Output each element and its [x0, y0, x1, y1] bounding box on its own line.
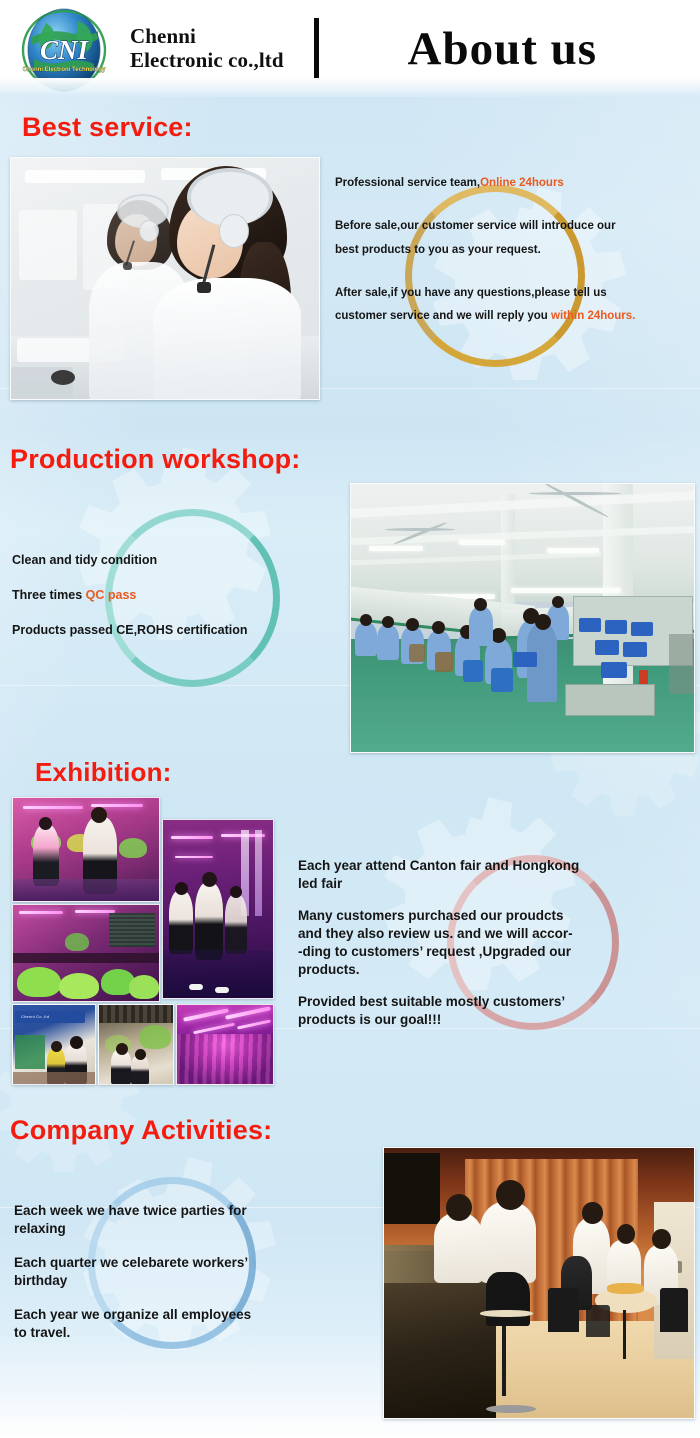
activities-line-5: Each year we organize all employees: [14, 1306, 354, 1324]
exhibition-line-5: -ding to customers’ request ,Upgraded ou…: [298, 943, 698, 961]
text-company-activities: Each week we have twice parties for rela…: [14, 1202, 354, 1342]
text-production-workshop: Clean and tidy condition Three times QC …: [12, 552, 337, 639]
service-line-5: customer service and we will reply you w…: [335, 308, 690, 325]
photo-collage-exhibition: Chenni Co.,ltd: [12, 797, 274, 1085]
text-best-service: Professional service team,Online 24hours…: [335, 175, 690, 325]
exhibition-photo-4: Chenni Co.,ltd: [12, 1004, 96, 1085]
brand-name: Chenni Electronic co.,ltd: [130, 25, 284, 72]
photo-production-workshop: [350, 483, 695, 753]
photo-company-activities: [383, 1147, 695, 1419]
exhibition-photo-1: [12, 797, 160, 902]
service-line-4: After sale,if you have any questions,ple…: [335, 285, 690, 302]
section-title-best-service: Best service:: [22, 112, 193, 143]
exhibition-line-8: products is our goal!!!: [298, 1011, 698, 1029]
workshop-line-3: Products passed CE,ROHS certification: [12, 622, 337, 639]
exhibition-line-6: products.: [298, 961, 698, 979]
activities-line-2: relaxing: [14, 1220, 354, 1238]
photo-best-service: [10, 157, 320, 400]
page-canvas: Best service: Professional service team,…: [0, 97, 700, 1438]
section-title-production-workshop: Production workshop:: [10, 444, 301, 475]
exhibition-line-2: led fair: [298, 875, 698, 893]
exhibition-line-4: and they also review us. and we will acc…: [298, 925, 698, 943]
workshop-line-2: Three times QC pass: [12, 587, 337, 604]
service-line-1: Professional service team,Online 24hours: [335, 175, 690, 192]
text-exhibition: Each year attend Canton fair and Hongkon…: [298, 857, 698, 1029]
booth-sign-text: Chenni Co.,ltd: [21, 1014, 49, 1019]
exhibition-line-3: Many customers purchased our proudcts: [298, 907, 698, 925]
section-title-exhibition: Exhibition:: [35, 757, 172, 788]
workshop-line-1: Clean and tidy condition: [12, 552, 337, 569]
activities-line-4: birthday: [14, 1272, 354, 1290]
exhibition-photo-2: [162, 819, 274, 999]
exhibition-photo-3: [12, 904, 160, 1002]
header-fade: [0, 78, 700, 97]
activities-line-6: to travel.: [14, 1324, 354, 1342]
activities-line-1: Each week we have twice parties for: [14, 1202, 354, 1220]
service-line-2: Before sale,our customer service will in…: [335, 218, 690, 235]
svg-text:CNI: CNI: [40, 35, 90, 65]
exhibition-line-1: Each year attend Canton fair and Hongkon…: [298, 857, 698, 875]
activities-line-3: Each quarter we celebarete workers’: [14, 1254, 354, 1272]
exhibition-line-7: Provided best suitable mostly customers’: [298, 993, 698, 1011]
service-line-3: best products to you as your request.: [335, 242, 690, 259]
exhibition-photo-5: [98, 1004, 174, 1085]
logo-tagline-text: Chenni Electroni Technology: [23, 67, 106, 73]
page-title: About us: [319, 22, 700, 76]
section-title-company-activities: Company Activities:: [10, 1115, 272, 1146]
exhibition-photo-6: [176, 1004, 274, 1085]
